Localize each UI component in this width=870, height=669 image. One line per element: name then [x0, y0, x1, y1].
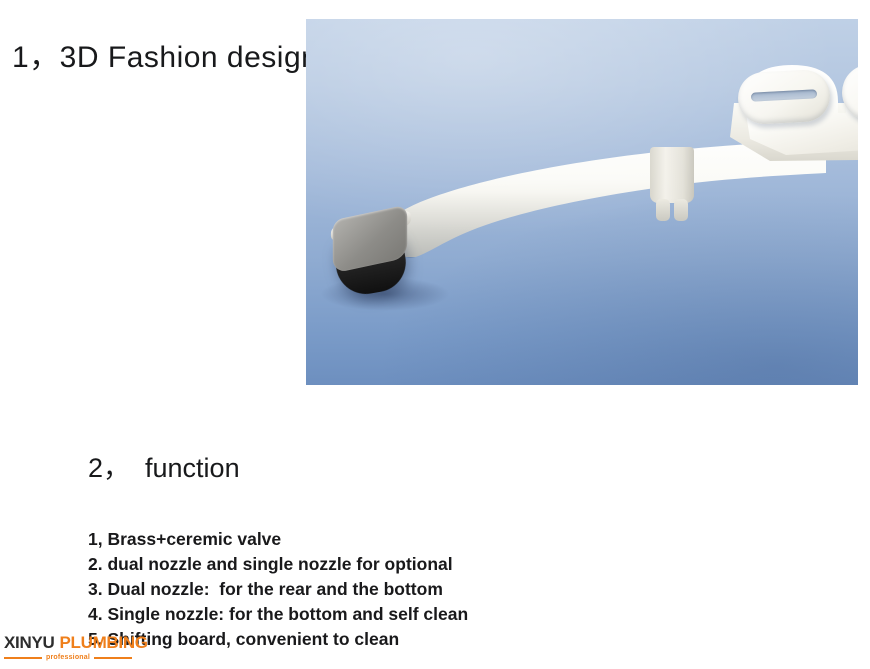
nozzle-tip-rear [656, 199, 670, 221]
section-title: 2， function [88, 446, 240, 485]
watermark-brand-second: PLUMBING [59, 634, 147, 651]
feature-list: 1, Brass+ceremic valve 2. dual nozzle an… [88, 527, 558, 652]
list-item: 3. Dual nozzle: for the rear and the bot… [88, 577, 558, 602]
slide-root: { "slide": { "title": "1，3D Fashion desi… [0, 0, 870, 669]
list-item: 1, Brass+ceremic valve [88, 527, 558, 552]
bidet-unit [306, 19, 858, 385]
nozzle-tip-front [674, 199, 688, 221]
list-item: 2. dual nozzle and single nozzle for opt… [88, 552, 558, 577]
list-item: 5. Shifting board, convenient to clean [88, 627, 558, 652]
watermark-logo: XINYU PLUMBING professional [4, 634, 132, 661]
nozzle-housing [650, 147, 694, 203]
watermark-rule-right [94, 657, 132, 659]
watermark-brand: XINYU PLUMBING [4, 634, 132, 651]
product-image [306, 19, 858, 385]
page-title: 1，3D Fashion design [12, 32, 318, 76]
watermark-tagline: professional [46, 654, 90, 661]
watermark-brand-first: XINYU [4, 634, 54, 651]
list-item: 4. Single nozzle: for the bottom and sel… [88, 602, 558, 627]
watermark-rule-left [4, 657, 42, 659]
watermark-tagline-row: professional [4, 654, 132, 661]
